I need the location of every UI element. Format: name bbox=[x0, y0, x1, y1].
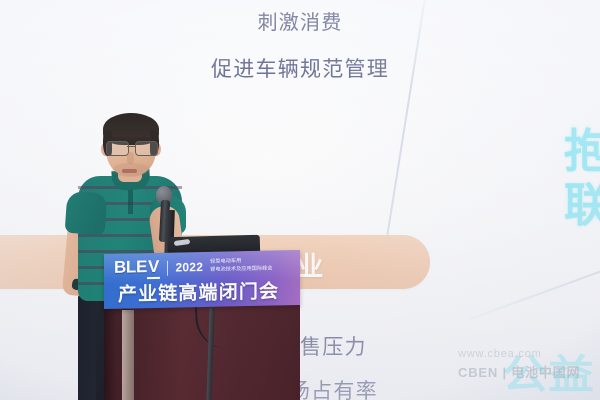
banner-divider bbox=[167, 260, 169, 275]
banner-headline: 产业链高端闭门会 bbox=[118, 276, 294, 307]
speaker-nose bbox=[127, 152, 134, 164]
banner-year: 2022 bbox=[175, 260, 203, 275]
banner-brand-row: BLEV 2022 轻型电动车用 锂电池技术及应用国际峰会 bbox=[114, 255, 294, 279]
speaker-left-sleeve bbox=[65, 191, 108, 236]
podium-banner: BLEV 2022 轻型电动车用 锂电池技术及应用国际峰会 产业链高端闭门会 bbox=[104, 250, 300, 309]
speaker-mouth bbox=[122, 169, 137, 173]
banner-subtitle: 轻型电动车用 锂电池技术及应用国际峰会 bbox=[210, 258, 272, 274]
conference-photo: 刺激消费 促进车辆规范管理 企业 抱联 解决销售压力 扩大市场占有率 bbox=[0, 0, 600, 400]
watermark-site-name: CBEN | 电池中国网 bbox=[458, 362, 580, 381]
podium-edge bbox=[104, 300, 118, 400]
speaker-figure bbox=[0, 0, 600, 400]
watermark-url: www.cbea.com bbox=[458, 348, 580, 360]
podium-stem bbox=[122, 310, 134, 400]
banner-brand-logo: BLEV bbox=[114, 257, 160, 280]
watermark: www.cbea.com CBEN | 电池中国网 bbox=[458, 348, 580, 381]
